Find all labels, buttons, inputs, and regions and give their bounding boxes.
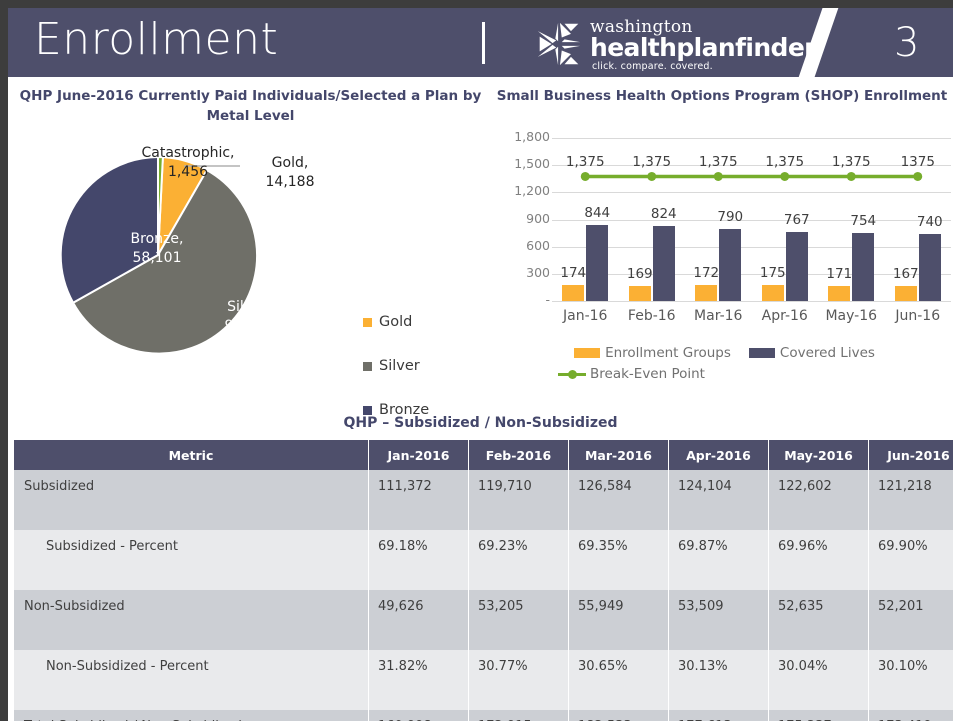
bar-chart-legend: Enrollment Groups Covered Lives Break-Ev… [496, 342, 953, 384]
table-cell-metric: Subsidized - Percent [14, 530, 369, 590]
table-cell-metric: Non-Subsidized - Percent [14, 650, 369, 710]
table-cell-value: 175,237 [769, 710, 869, 721]
y-axis-tick-label: 900 [496, 211, 550, 226]
gridline [552, 301, 951, 302]
pie-label-bronze: Bronze, 58,101 [112, 230, 202, 268]
table-cell-value: 119,710 [469, 470, 569, 530]
table-cell-value: 49,626 [369, 590, 469, 650]
table-cell-value: 111,372 [369, 470, 469, 530]
left-edge-strip [0, 0, 8, 721]
legend-item-silver[interactable]: Silver [363, 344, 503, 388]
table-cell-value: 30.13% [669, 650, 769, 710]
x-axis-tick-label: Jun-16 [873, 308, 953, 324]
pie-chart-title: QHP June-2016 Currently Paid Individuals… [8, 86, 493, 126]
legend-swatch-enrollment-groups-icon [574, 348, 600, 358]
table-column-header[interactable]: Metric [14, 440, 369, 470]
table-cell-value: 31.82% [369, 650, 469, 710]
bar-chart-legend-row-1: Enrollment Groups Covered Lives [496, 342, 953, 363]
bar-chart-legend-row-2: Break-Even Point [496, 363, 953, 384]
table-row: Total Subsidized / Non-Subsidized160,998… [14, 710, 953, 721]
table-cell-metric: Subsidized [14, 470, 369, 530]
shop-enrollment-chart: 1,8001,5001,200900600300- 17484416982417… [496, 128, 953, 388]
table-column-header[interactable]: May-2016 [769, 440, 869, 470]
legend-swatch-covered-lives-icon [749, 348, 775, 358]
table-cell-value: 122,602 [769, 470, 869, 530]
table-cell-metric: Total Subsidized / Non-Subsidized [14, 710, 369, 721]
slide-root: Enrollment washington he [0, 0, 953, 721]
y-axis-tick-label: - [496, 292, 550, 307]
table-cell-value: 30.65% [569, 650, 669, 710]
table-column-header[interactable]: Apr-2016 [669, 440, 769, 470]
y-axis-tick-label: 300 [496, 265, 550, 280]
legend-label-break-even-point: Break-Even Point [590, 366, 705, 382]
table-row: Non-Subsidized - Percent31.82%30.77%30.6… [14, 650, 953, 710]
table-cell-value: 160,998 [369, 710, 469, 721]
table-cell-value: 121,218 [869, 470, 953, 530]
table-cell-value: 30.04% [769, 650, 869, 710]
table-cell-value: 182,533 [569, 710, 669, 721]
y-axis-tick-label: 1,200 [496, 183, 550, 198]
pie-label-catastrophic: Catastrophic, 1,456 [138, 144, 238, 182]
table-cell-value: 172,915 [469, 710, 569, 721]
table-title: QHP – Subsidized / Non-Subsidized [8, 415, 953, 431]
legend-item-gold[interactable]: Gold [363, 300, 503, 344]
legend-item-enrollment-groups[interactable]: Enrollment Groups [574, 345, 731, 361]
snowflake-logo-icon [536, 21, 582, 67]
bar-chart-title: Small Business Health Options Program (S… [496, 86, 948, 106]
table-column-header[interactable]: Jun-2016 [869, 440, 953, 470]
table-cell-value: 69.96% [769, 530, 869, 590]
table-body: Subsidized111,372119,710126,584124,10412… [14, 470, 953, 721]
table-row: Non-Subsidized49,62653,20555,94953,50952… [14, 590, 953, 650]
legend-swatch-bronze-icon [363, 406, 372, 415]
washington-healthplanfinder-logo: washington healthplanfinder click. compa… [536, 17, 814, 72]
pie-label-silver: Silver, 99,684 [204, 298, 294, 336]
table-cell-metric: Non-Subsidized [14, 590, 369, 650]
table-cell-value: 69.87% [669, 530, 769, 590]
table-cell-value: 30.77% [469, 650, 569, 710]
table-cell-value: 53,205 [469, 590, 569, 650]
table-row: Subsidized - Percent69.18%69.23%69.35%69… [14, 530, 953, 590]
table-row: Subsidized111,372119,710126,584124,10412… [14, 470, 953, 530]
table-cell-value: 69.35% [569, 530, 669, 590]
bar-chart-plot-area: 1748441698241727901757671717541677401,37… [552, 138, 951, 301]
legend-line-marker-break-even-icon [558, 369, 586, 379]
logo-line-healthplanfinder: healthplanfinder [590, 33, 816, 62]
table-cell-value: 69.23% [469, 530, 569, 590]
table-cell-value: 55,949 [569, 590, 669, 650]
table-column-header[interactable]: Feb-2016 [469, 440, 569, 470]
table-cell-value: 52,201 [869, 590, 953, 650]
table-cell-value: 173,419 [869, 710, 953, 721]
legend-item-covered-lives[interactable]: Covered Lives [749, 345, 875, 361]
table-cell-value: 53,509 [669, 590, 769, 650]
table-cell-value: 69.18% [369, 530, 469, 590]
table-header-row: MetricJan-2016Feb-2016Mar-2016Apr-2016Ma… [14, 440, 953, 470]
table-column-header[interactable]: Jan-2016 [369, 440, 469, 470]
legend-label-covered-lives: Covered Lives [780, 345, 875, 361]
subsidized-table: MetricJan-2016Feb-2016Mar-2016Apr-2016Ma… [14, 440, 953, 721]
pie-chart: Catastrophic, 1,456 Gold, 14,188 Bronze,… [8, 130, 493, 390]
table-column-header[interactable]: Mar-2016 [569, 440, 669, 470]
table-cell-value: 52,635 [769, 590, 869, 650]
legend-swatch-silver-icon [363, 362, 372, 371]
legend-swatch-gold-icon [363, 318, 372, 327]
legend-label-silver: Silver [379, 358, 420, 374]
table-head: MetricJan-2016Feb-2016Mar-2016Apr-2016Ma… [14, 440, 953, 470]
page-title: Enrollment [34, 14, 278, 65]
logo-tagline: click. compare. covered. [592, 61, 713, 72]
slide-page-number: 3 [894, 20, 919, 66]
table-cell-value: 126,584 [569, 470, 669, 530]
y-axis-tick-label: 600 [496, 238, 550, 253]
legend-label-enrollment-groups: Enrollment Groups [605, 345, 731, 361]
table-cell-value: 177,613 [669, 710, 769, 721]
y-axis-tick-label: 1,800 [496, 129, 550, 144]
slide-header: Enrollment washington he [8, 8, 953, 77]
y-axis-tick-label: 1,500 [496, 156, 550, 171]
header-divider [482, 22, 485, 64]
legend-item-break-even-point[interactable]: Break-Even Point [558, 366, 705, 382]
table-cell-value: 30.10% [869, 650, 953, 710]
table-cell-value: 69.90% [869, 530, 953, 590]
table-cell-value: 124,104 [669, 470, 769, 530]
top-edge-strip [0, 0, 953, 8]
legend-label-gold: Gold [379, 314, 412, 330]
line-value-label: 1375 [878, 154, 953, 170]
pie-label-gold: Gold, 14,188 [252, 154, 328, 192]
